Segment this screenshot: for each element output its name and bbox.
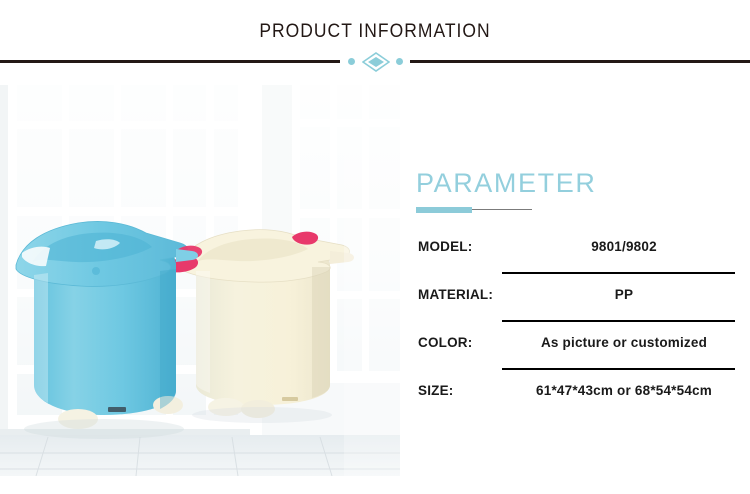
parameter-heading: PARAMETER	[416, 168, 596, 199]
parameter-underline	[416, 207, 532, 213]
table-row: SIZE: 61*47*43cm or 68*54*54cm	[416, 370, 746, 418]
divider-dot-right	[396, 58, 403, 65]
param-label-material: MATERIAL:	[418, 287, 493, 302]
param-label-size: SIZE:	[418, 383, 454, 398]
parameter-table: MODEL: 9801/9802 MATERIAL: PP COLOR: As …	[416, 226, 746, 418]
param-label-color: COLOR:	[418, 335, 472, 350]
parameter-panel: PARAMETER MODEL: 9801/9802 MATERIAL: PP …	[416, 160, 746, 420]
divider-line-left	[0, 60, 340, 63]
divider-dot-left	[348, 58, 355, 65]
product-photo	[0, 85, 400, 476]
param-value-size: 61*47*43cm or 68*54*54cm	[502, 383, 746, 398]
header-divider	[0, 52, 750, 72]
table-row: MATERIAL: PP	[416, 274, 746, 322]
product-information-page: PRODUCT INFORMATION	[0, 0, 750, 494]
underline-thin-bar	[472, 209, 532, 210]
underline-accent-bar	[416, 207, 472, 213]
page-title: PRODUCT INFORMATION	[30, 21, 720, 43]
diamond-ornament-icon	[362, 52, 390, 72]
param-value-material: PP	[502, 287, 746, 302]
table-row: COLOR: As picture or customized	[416, 322, 746, 370]
param-value-model: 9801/9802	[502, 239, 746, 254]
param-value-color: As picture or customized	[502, 335, 746, 350]
table-row: MODEL: 9801/9802	[416, 226, 746, 274]
divider-line-right	[410, 60, 750, 63]
param-label-model: MODEL:	[418, 239, 472, 254]
